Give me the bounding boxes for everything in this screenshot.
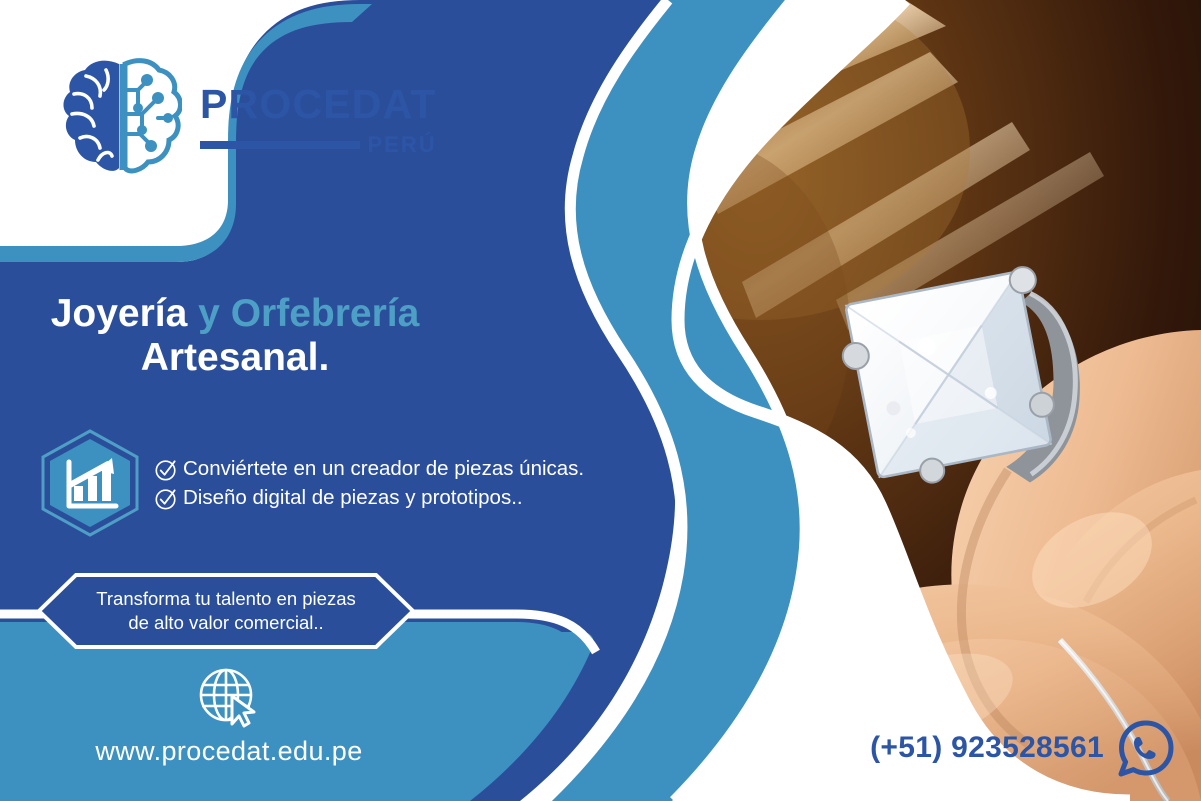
feature-text: Conviértete en un creador de piezas únic… — [183, 456, 584, 483]
promotional-banner: PROCEDAT PERÚ Joyería y Orfebrería Artes… — [0, 0, 1201, 801]
logo: PROCEDAT PERÚ — [62, 42, 462, 192]
feature-list: Conviértete en un creador de piezas únic… — [154, 454, 584, 511]
headline-part-2: y Orfebrería — [187, 292, 419, 335]
brand-name: PROCEDAT — [200, 84, 437, 125]
brand-subrow: PERÚ — [200, 134, 437, 156]
list-item: Conviértete en un creador de piezas únic… — [154, 456, 584, 483]
brain-icon — [62, 56, 182, 178]
website-block[interactable]: www.procedat.edu.pe — [44, 664, 414, 767]
tagline-text: Transforma tu talento en piezas de alto … — [36, 572, 416, 650]
feature-text: Diseño digital de piezas y prototipos.. — [183, 485, 523, 512]
brand-country: PERÚ — [368, 134, 437, 156]
tagline-badge: Transforma tu talento en piezas de alto … — [36, 572, 416, 650]
phone-number[interactable]: (+51) 923528561 — [870, 731, 1104, 765]
tagline-line-2: de alto valor comercial.. — [128, 611, 323, 635]
whatsapp-icon[interactable] — [1113, 717, 1175, 779]
list-item: Diseño digital de piezas y prototipos.. — [154, 485, 584, 512]
globe-cursor-icon — [196, 664, 262, 730]
check-circle-icon — [154, 457, 179, 482]
contact-block[interactable]: (+51) 923528561 — [870, 717, 1175, 779]
bar-chart-growth-icon — [36, 428, 144, 538]
website-url[interactable]: www.procedat.edu.pe — [95, 736, 362, 767]
logo-wordmark: PROCEDAT PERÚ — [200, 78, 437, 156]
check-circle-icon — [154, 486, 179, 511]
tagline-line-1: Transforma tu talento en piezas — [96, 587, 355, 611]
headline-line-2: Artesanal. — [0, 336, 470, 380]
headline-part-1: Joyería — [51, 292, 188, 335]
logo-rule — [200, 141, 360, 149]
headline: Joyería y Orfebrería Artesanal. — [0, 292, 470, 379]
features-block: Conviértete en un creador de piezas únic… — [36, 428, 584, 538]
